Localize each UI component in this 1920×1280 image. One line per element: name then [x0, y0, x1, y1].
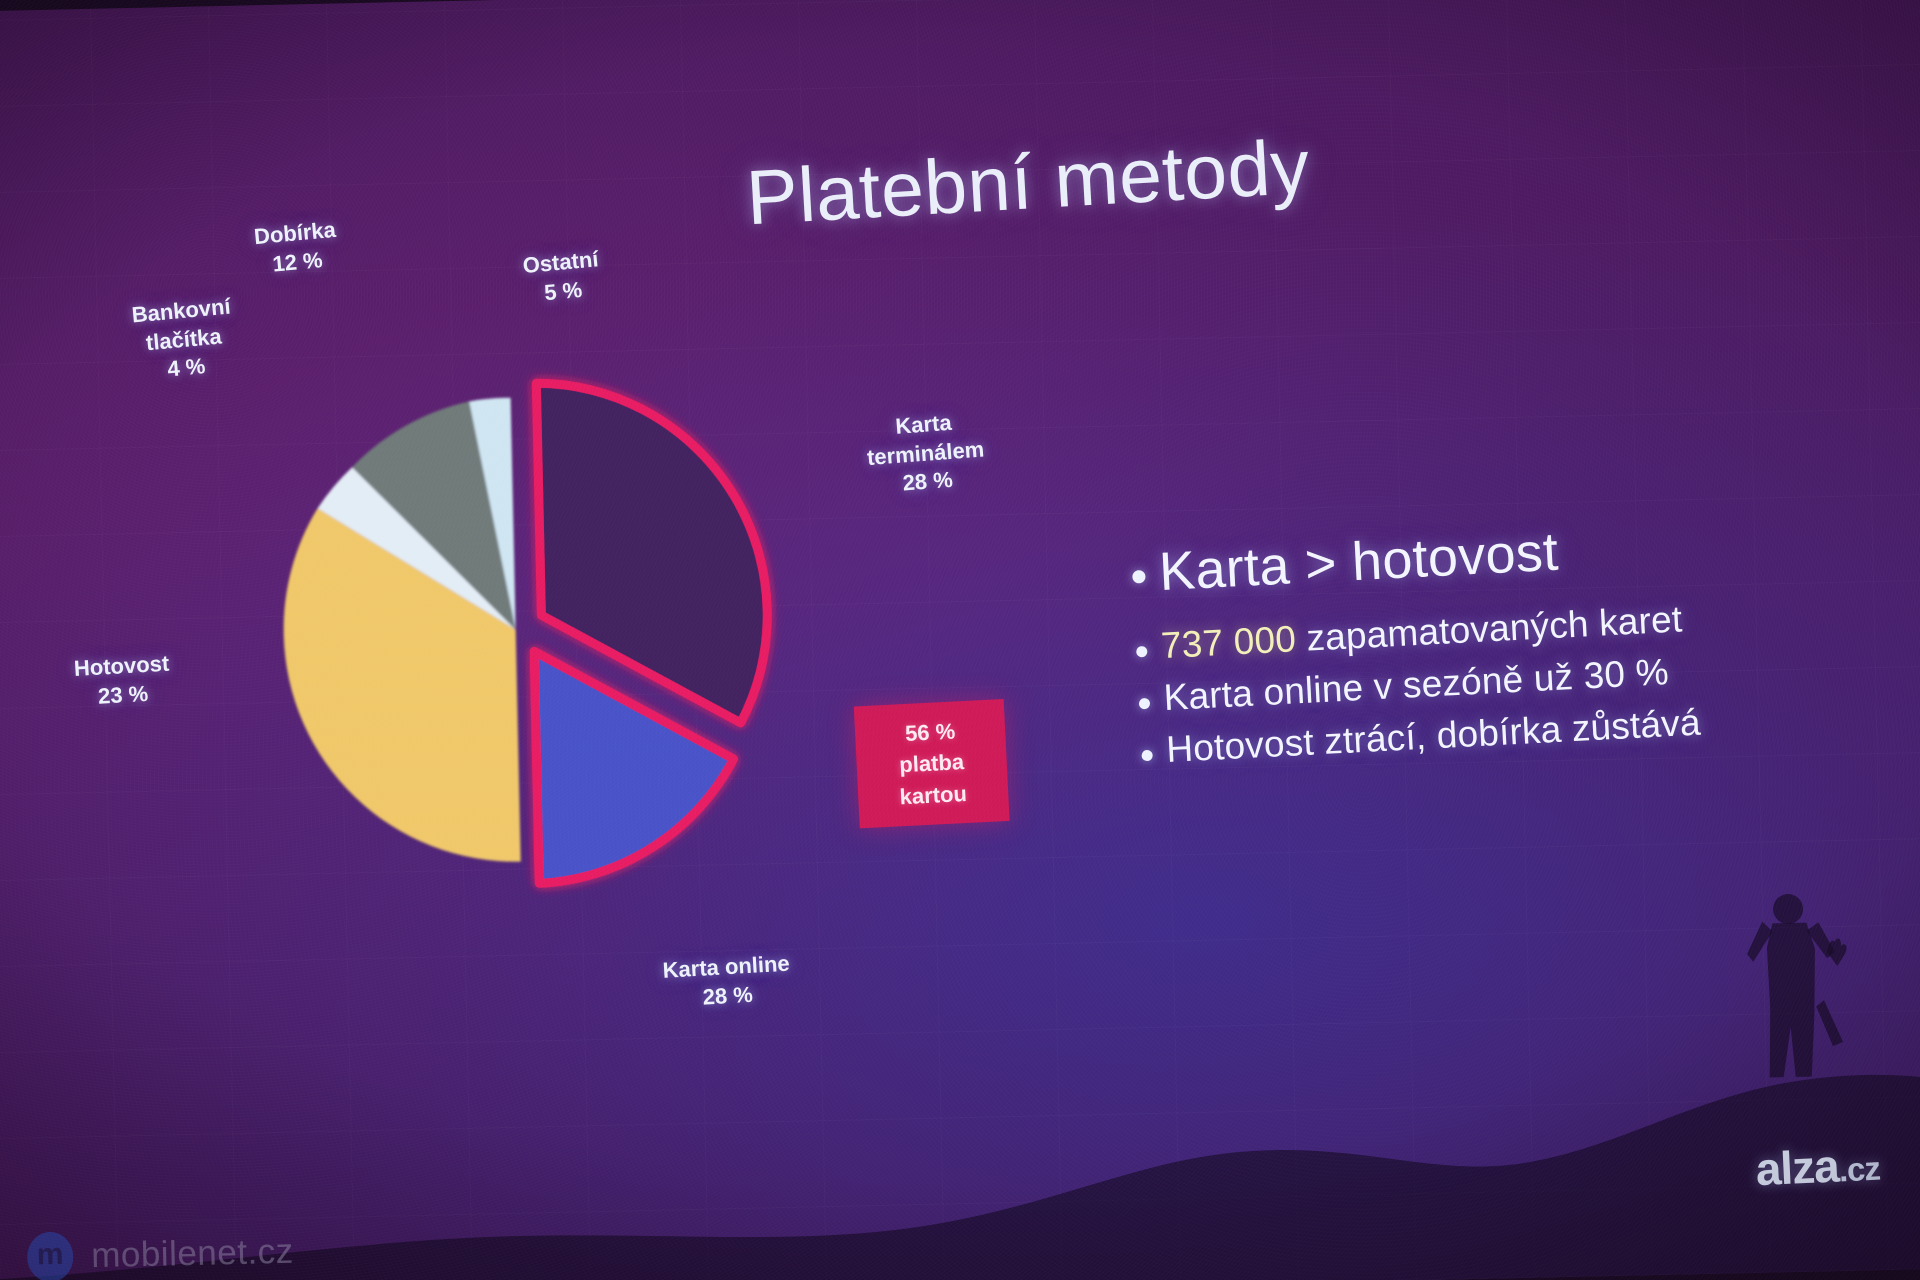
pie-label-karta-terminalem: Karta terminálem 28 % — [864, 407, 987, 501]
alza-logo-tld: .cz — [1838, 1150, 1881, 1189]
slide-photo: Platební metody — [0, 0, 1920, 1280]
person-silhouette — [1722, 885, 1876, 1083]
bullet-item-rest: zapamatovaných karet — [1295, 598, 1683, 659]
page-title: Platební metody — [744, 123, 1312, 244]
alza-logo: alza.cz — [1755, 1137, 1881, 1197]
pie-label-bankovni-tlacitka: Bankovní tlačítka 4 % — [131, 293, 237, 387]
pie-chart: Dobírka 12 % Ostatní 5 % Bankovní tlačít… — [209, 291, 944, 1007]
bullet-highlight-number: 737 000 — [1160, 618, 1297, 666]
bullet-main-text: Karta > hotovost — [1158, 521, 1560, 603]
bullet-dot-icon — [1132, 570, 1146, 584]
mobilenet-watermark-text: mobilenet.cz — [91, 1232, 294, 1276]
callout-line-3: kartou — [899, 778, 968, 813]
callout-platba-kartou: 56 % platba kartou — [854, 699, 1010, 828]
bullet-dot-icon — [1141, 750, 1153, 762]
bullet-dot-icon — [1136, 646, 1148, 658]
pie-label-karta-online: Karta online 28 % — [662, 950, 792, 1014]
pie-slices — [209, 291, 944, 1007]
callout-line-1: 56 % — [904, 716, 956, 750]
bullet-main: Karta > hotovost — [1131, 504, 1893, 605]
mobilenet-logo-icon: m — [27, 1232, 74, 1280]
pie-label-dobirka: Dobírka 12 % — [253, 216, 340, 280]
callout-line-2: platba — [899, 746, 965, 780]
projected-slide: Platební metody — [0, 0, 1920, 1280]
bullet-list: Karta > hotovost 737 000 zapamatovaných … — [1131, 504, 1902, 773]
bullet-dot-icon — [1139, 698, 1151, 710]
mobilenet-watermark: m mobilenet.cz — [27, 1227, 295, 1280]
pie-label-ostatni: Ostatní 5 % — [522, 245, 603, 309]
alza-logo-name: alza — [1755, 1140, 1840, 1196]
pie-label-hotovost: Hotovost 23 % — [73, 650, 171, 712]
